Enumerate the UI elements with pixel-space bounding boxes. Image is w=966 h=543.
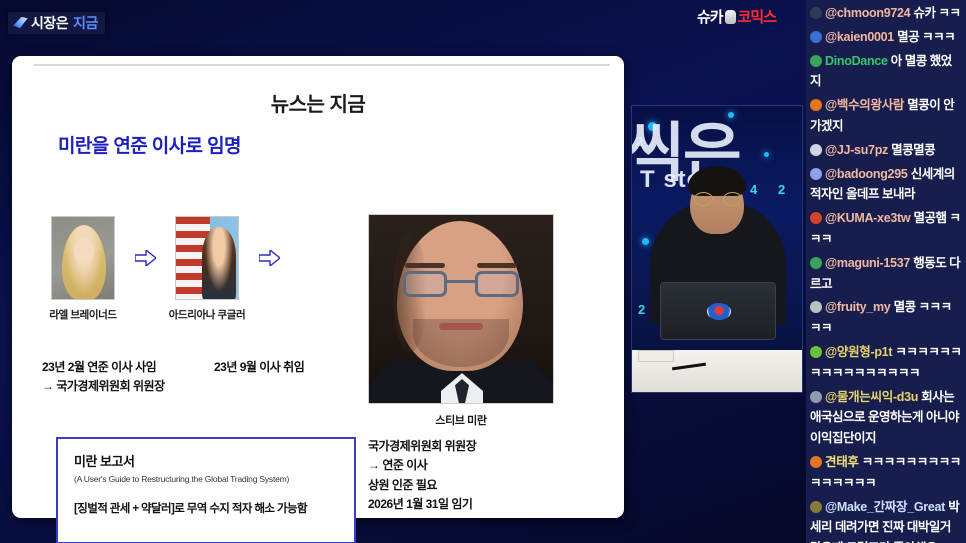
slide-heading: 뉴스는 지금 — [32, 88, 604, 117]
laptop — [660, 282, 776, 340]
chat-username[interactable]: @백수의왕사람 — [825, 98, 907, 112]
main-person-line: 상원 인준 필요 — [368, 476, 554, 495]
swoosh-icon — [12, 16, 28, 29]
decor-dot — [642, 238, 649, 245]
chat-avatar-icon — [810, 31, 822, 43]
main-person-line: 국가경제위원회 위원장 — [368, 437, 554, 456]
presentation-slide: 뉴스는 지금 미란을 연준 이사로 임명 라엘 브레이너드 — [12, 56, 624, 518]
person-kugler: 아드리아나 쿠글러 — [166, 216, 248, 322]
chat-message: @양원형-p1t ㅋㅋㅋㅋㅋㅋㅋㅋㅋㅋㅋㅋㅋㅋㅋㅋ — [810, 342, 962, 384]
chat-avatar-icon — [810, 456, 822, 468]
chat-avatar-icon — [810, 391, 822, 403]
broadcast-stage: 시장은 지금 슈카 코믹스 뉴스는 지금 미란을 연준 이사로 임명 라엘 브레… — [0, 0, 806, 543]
chat-avatar-icon — [810, 7, 822, 19]
chat-avatar-icon — [810, 168, 822, 180]
stream-screen: 시장은 지금 슈카 코믹스 뉴스는 지금 미란을 연준 이사로 임명 라엘 브레… — [0, 0, 966, 543]
portrait-lael-brainard — [51, 216, 115, 300]
overlay-number: 2 — [638, 302, 645, 317]
chat-username[interactable]: @kaien0001 — [825, 30, 897, 44]
portrait-adriana-kugler — [175, 216, 239, 300]
overlay-number: 2 — [778, 182, 785, 197]
overlay-number: 4 — [750, 182, 757, 197]
people-row: 라엘 브레이너드 아드리아나 쿠글러 — [42, 216, 372, 351]
report-note: [징벌적 관세 + 약달러]로 무역 수지 적자 해소 가능함 — [74, 500, 340, 516]
show-logo-word1: 시장은 — [31, 13, 68, 33]
chat-message: DinoDance 아 멸콩 했었지 — [810, 51, 962, 93]
slide-divider — [34, 64, 610, 66]
chat-avatar-icon — [810, 99, 822, 111]
chat-username[interactable]: @badoong295 — [825, 167, 911, 181]
report-title: 미란 보고서 — [74, 451, 340, 470]
chat-username[interactable]: @chmoon9724 — [825, 6, 913, 20]
chat-message: 견태후 ㅋㅋㅋㅋㅋㅋㅋㅋㅋㅋㅋㅋㅋㅋㅋ — [810, 452, 962, 494]
caption-column-brainard: 23년 2월 연준 이사 사임 → 국가경제위원회 위원장 — [42, 358, 212, 395]
report-subtitle: (A User's Guide to Restructuring the Glo… — [74, 474, 340, 484]
person-brainard: 라엘 브레이너드 — [42, 216, 124, 322]
main-person-lines: 국가경제위원회 위원장 → 연준 이사 상원 인준 필요 2026년 1월 31… — [368, 437, 554, 515]
chat-message: @JJ-su7pz 멸콩멸콩 — [810, 140, 962, 161]
chat-message: @maguni-1537 행동도 다르고 — [810, 253, 962, 295]
chat-text: 멸콩멸콩 — [891, 143, 935, 157]
chat-message: @백수의왕사람 멸콩이 안 가겠지 — [810, 95, 962, 137]
show-logo: 시장은 지금 — [8, 12, 105, 34]
chat-username[interactable]: @maguni-1537 — [825, 256, 913, 270]
channel-logo: 슈카 코믹스 — [697, 6, 776, 27]
chat-message: @KUMA-xe3tw 멸공햄 ㅋㅋㅋ — [810, 208, 962, 250]
chat-username[interactable]: @Make_간짜장_Great — [825, 500, 948, 514]
slide-subheading: 미란을 연준 이사로 임명 — [58, 131, 604, 158]
microphone-icon — [725, 10, 736, 24]
show-logo-word2: 지금 — [73, 13, 98, 33]
chat-avatar-icon — [810, 501, 822, 513]
chat-username[interactable]: @KUMA-xe3tw — [825, 211, 913, 225]
portrait-stephen-miran — [368, 214, 554, 404]
chat-username[interactable]: @JJ-su7pz — [825, 143, 891, 157]
main-person-name: 스티브 미란 — [368, 412, 554, 428]
main-person-block: 스티브 미란 국가경제위원회 위원장 → 연준 이사 상원 인준 필요 2026… — [368, 214, 554, 515]
person-name: 라엘 브레이너드 — [49, 307, 116, 322]
caption-line: 23년 9월 이사 취임 — [214, 358, 374, 377]
chat-username[interactable]: @양원형-p1t — [825, 345, 895, 359]
main-person-line: 2026년 1월 31일 임기 — [368, 495, 554, 514]
chat-text: 멸공 ㅋㅋㅋ — [897, 30, 955, 44]
chat-avatar-icon — [810, 257, 822, 269]
person-name: 아드리아나 쿠글러 — [169, 307, 246, 322]
laptop-sticker-icon — [707, 303, 731, 320]
chat-avatar-icon — [810, 346, 822, 358]
chat-avatar-icon — [810, 212, 822, 224]
streamer-glasses-icon — [694, 192, 742, 206]
channel-logo-left: 슈카 — [697, 6, 723, 27]
chat-username[interactable]: @물개는씨익-d3u — [825, 390, 921, 404]
chat-message: @Make_간짜장_Great 박세리 데려가면 진짜 대박일거 같은데 트럼프… — [810, 497, 962, 543]
chat-message: @fruity_my 멸콩 ㅋㅋㅋㅋㅋ — [810, 297, 962, 339]
main-person-line: → 연준 이사 — [368, 456, 554, 475]
decor-dot — [764, 152, 769, 157]
caption-line: 23년 2월 연준 이사 사임 — [42, 358, 212, 377]
chat-username[interactable]: 견태후 — [825, 455, 862, 469]
notebook — [638, 350, 674, 362]
chat-message: @chmoon9724 슈카 ㅋㅋ — [810, 3, 962, 24]
chat-text: 슈카 ㅋㅋ — [913, 6, 960, 20]
caption-column-kugler: 23년 9월 이사 취임 — [214, 358, 374, 377]
chat-avatar-icon — [810, 55, 822, 67]
report-box: 미란 보고서 (A User's Guide to Restructuring … — [56, 437, 356, 543]
chat-panel[interactable]: @chmoon9724 슈카 ㅋㅋ@kaien0001 멸공 ㅋㅋㅋDinoDa… — [806, 0, 966, 543]
chat-avatar-icon — [810, 301, 822, 313]
chat-message: @badoong295 신세계의 적자인 올데프 보내라 — [810, 164, 962, 206]
chat-message-list[interactable]: @chmoon9724 슈카 ㅋㅋ@kaien0001 멸공 ㅋㅋㅋDinoDa… — [810, 3, 962, 543]
arrow-right-icon-2 — [248, 216, 290, 300]
arrow-right-icon-1 — [124, 216, 166, 300]
chat-avatar-icon — [810, 144, 822, 156]
chat-message: @kaien0001 멸공 ㅋㅋㅋ — [810, 27, 962, 48]
chat-message: @물개는씨익-d3u 회사는 애국심으로 운영하는게 아니야 이익집단이지 — [810, 387, 962, 449]
webcam-view: 2 4 2 2 씩은 T stoc — [631, 105, 803, 393]
chat-username[interactable]: @fruity_my — [825, 300, 894, 314]
channel-logo-right: 코믹스 — [738, 6, 776, 27]
chat-username[interactable]: DinoDance — [825, 54, 891, 68]
caption-line: → 국가경제위원회 위원장 — [42, 377, 212, 396]
